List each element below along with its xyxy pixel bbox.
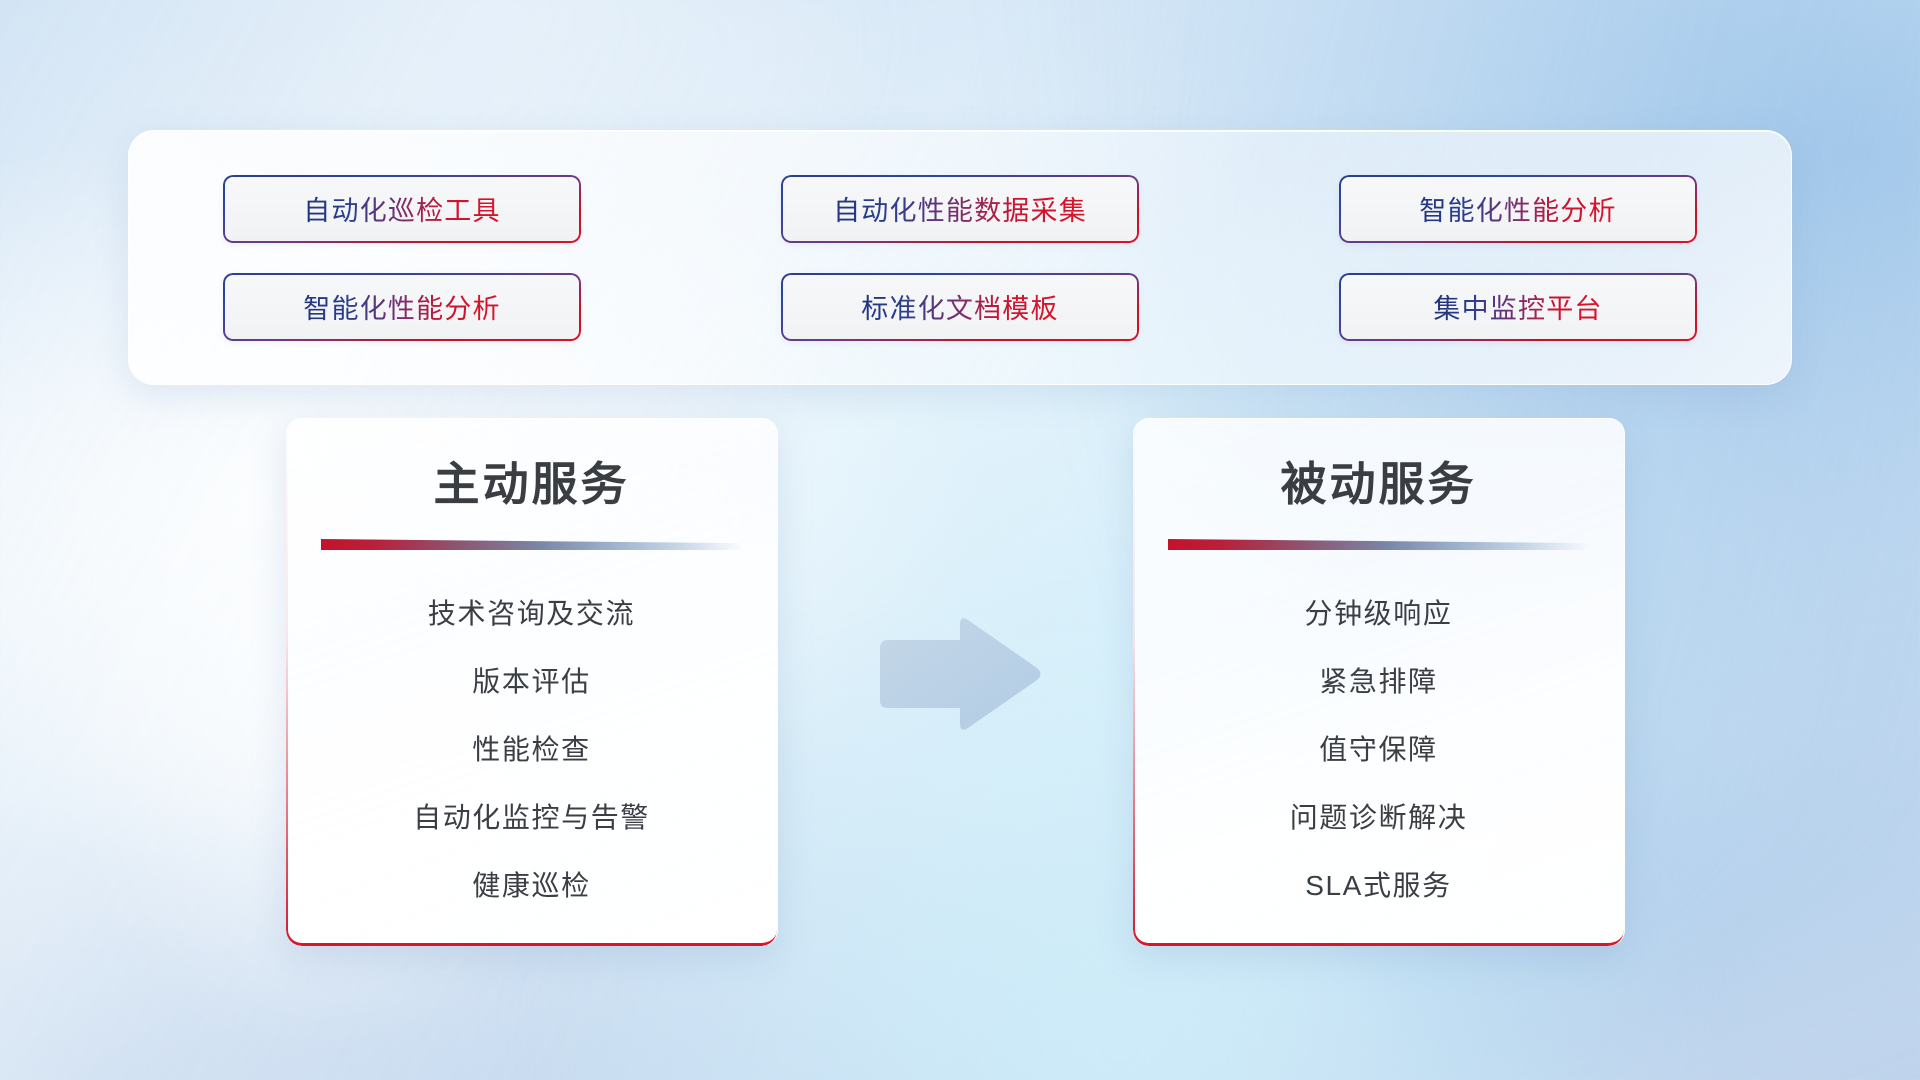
capability-chip-label: 自动化巡检工具 <box>303 189 500 228</box>
service-card-reactive[interactable]: 被动服务 分钟级响应 紧急排障 值守保障 问题诊断解决 SLA式服务 <box>1133 418 1625 946</box>
service-item-list: 技术咨询及交流 版本评估 性能检查 自动化监控与告警 健康巡检 <box>326 600 737 900</box>
arrow-right-icon <box>874 614 1044 736</box>
list-item: 自动化监控与告警 <box>413 804 650 832</box>
list-item: 问题诊断解决 <box>1290 804 1468 832</box>
capability-chip-label: 智能化性能分析 <box>1419 189 1616 228</box>
capability-chip-label: 自动化性能数据采集 <box>833 189 1087 228</box>
list-item: 健康巡检 <box>472 872 590 900</box>
service-card-content: 被动服务 分钟级响应 紧急排障 值守保障 问题诊断解决 SLA式服务 <box>1133 419 1624 946</box>
service-card-title: 被动服务 <box>1281 461 1477 507</box>
service-card-title: 主动服务 <box>434 461 630 507</box>
list-item: 值守保障 <box>1319 736 1437 764</box>
list-item: SLA式服务 <box>1305 872 1452 900</box>
capability-chip-standardized-document-template[interactable]: 标准化文档模板 <box>781 273 1139 341</box>
title-divider <box>1168 539 1590 550</box>
title-divider-bar <box>321 539 743 550</box>
capability-chip-centralized-monitoring-platform[interactable]: 集中监控平台 <box>1339 273 1697 341</box>
list-item: 分钟级响应 <box>1304 600 1452 628</box>
list-item: 性能检查 <box>472 736 590 764</box>
capability-chip-label: 标准化文档模板 <box>861 287 1058 326</box>
capability-row-1: 自动化巡检工具 自动化性能数据采集 智能化性能分析 <box>223 175 1697 243</box>
capability-chip-automated-performance-data-collection[interactable]: 自动化性能数据采集 <box>781 175 1139 243</box>
title-divider <box>321 539 743 550</box>
service-item-list: 分钟级响应 紧急排障 值守保障 问题诊断解决 SLA式服务 <box>1173 600 1584 900</box>
service-card-content: 主动服务 技术咨询及交流 版本评估 性能检查 自动化监控与告警 健康巡检 <box>286 419 777 946</box>
list-item: 紧急排障 <box>1319 668 1437 696</box>
capability-chip-automated-inspection-tool[interactable]: 自动化巡检工具 <box>223 175 581 243</box>
capability-row-2: 智能化性能分析 标准化文档模板 集中监控平台 <box>223 273 1697 341</box>
capability-chip-intelligent-performance-analysis-b[interactable]: 智能化性能分析 <box>223 273 581 341</box>
list-item: 技术咨询及交流 <box>428 600 635 628</box>
service-card-proactive[interactable]: 主动服务 技术咨询及交流 版本评估 性能检查 自动化监控与告警 健康巡检 <box>286 418 778 946</box>
capability-chip-intelligent-performance-analysis-a[interactable]: 智能化性能分析 <box>1339 175 1697 243</box>
list-item: 版本评估 <box>472 668 590 696</box>
diagram-stage: 自动化巡检工具 自动化性能数据采集 智能化性能分析 智能化性能分析 标准化文档模… <box>0 0 1920 1080</box>
capability-panel: 自动化巡检工具 自动化性能数据采集 智能化性能分析 智能化性能分析 标准化文档模… <box>128 130 1792 385</box>
title-divider-bar <box>1168 539 1590 550</box>
capability-chip-label: 智能化性能分析 <box>303 287 500 326</box>
capability-chip-label: 集中监控平台 <box>1433 287 1602 326</box>
